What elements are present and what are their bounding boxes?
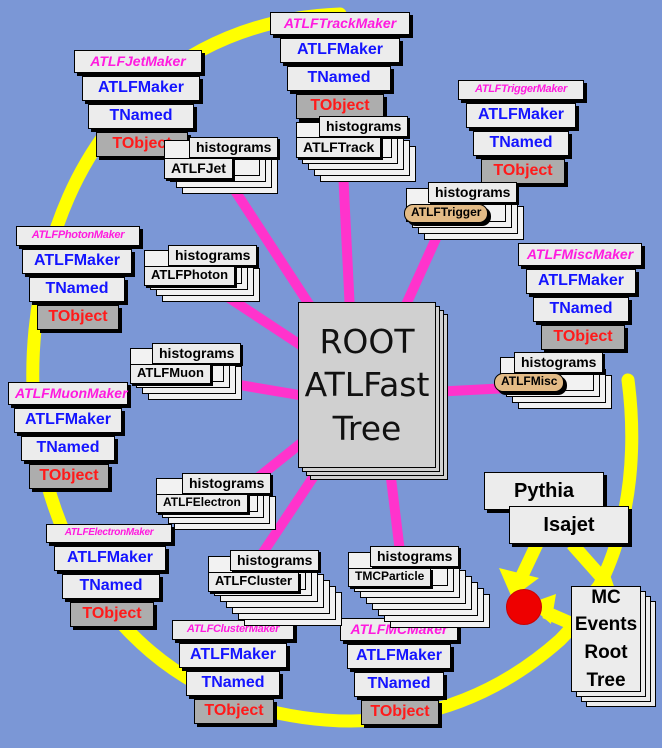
jet-class-label[interactable]: ATLFJet	[164, 158, 233, 179]
class-box-tobject-cluster[interactable]: TObject	[194, 699, 274, 724]
class-box-tobject-muon[interactable]: TObject	[29, 464, 109, 489]
class-box-atlfmaker-track[interactable]: ATLFMaker	[280, 38, 400, 63]
isajet-box[interactable]: Isajet	[509, 506, 629, 544]
class-box-tobject-electron[interactable]: TObject	[70, 602, 154, 627]
class-stack-trackmaker[interactable]: ATLFTrackMaker ATLFMaker TNamed TObject	[270, 12, 415, 122]
class-box-atlfmaker-misc[interactable]: ATLFMaker	[526, 269, 636, 294]
class-stack-mcmaker[interactable]: ATLFMCMaker ATLFMaker TNamed TObject	[340, 618, 462, 728]
class-stack-electronmaker[interactable]: ATLFElectronMaker ATLFMaker TNamed TObje…	[46, 524, 176, 630]
class-box-atlfmaker-cluster[interactable]: ATLFMaker	[179, 643, 287, 668]
class-box-tnamed-misc[interactable]: TNamed	[533, 297, 629, 322]
electron-class-label[interactable]: ATLFElectron	[156, 494, 248, 513]
class-box-atlfmaker-trigger[interactable]: ATLFMaker	[466, 103, 576, 128]
jet-histograms-label[interactable]: histograms	[189, 137, 278, 158]
pythia-box[interactable]: Pythia	[484, 472, 604, 510]
trigger-histograms-label[interactable]: histograms	[428, 182, 517, 203]
class-box-atlfmaker-mc[interactable]: ATLFMaker	[347, 644, 451, 669]
class-stack-photonmaker[interactable]: ATLFPhotonMaker ATLFMaker TNamed TObject	[16, 226, 144, 333]
muon-class-label[interactable]: ATLFMuon	[130, 364, 211, 384]
class-stack-miscmaker[interactable]: ATLFMiscMaker ATLFMaker TNamed TObject	[518, 243, 646, 353]
photon-class-label[interactable]: ATLFPhoton	[144, 266, 235, 286]
mc-events-root-tree[interactable]: MC Events Root Tree	[571, 586, 659, 710]
misc-class-label[interactable]: ATLFMisc	[494, 373, 564, 392]
class-box-tnamed-cluster[interactable]: TNamed	[186, 671, 280, 696]
tree-line-1: ROOT	[319, 320, 414, 364]
merge-point-marker	[506, 589, 542, 625]
class-box-atlftrackmaker[interactable]: ATLFTrackMaker	[270, 12, 410, 35]
class-box-atlfmaker-jet[interactable]: ATLFMaker	[82, 76, 200, 101]
muon-histograms-label[interactable]: histograms	[152, 343, 241, 364]
mc-front-sheet: MC Events Root Tree	[571, 586, 641, 692]
class-box-tnamed-trigger[interactable]: TNamed	[473, 131, 569, 156]
class-box-tobject-photon[interactable]: TObject	[37, 305, 119, 330]
mcparticle-class-label[interactable]: TMCParticle	[348, 568, 431, 587]
class-box-atlfjetmaker[interactable]: ATLFJetMaker	[74, 50, 202, 73]
class-box-tobject-mc[interactable]: TObject	[361, 700, 439, 725]
class-box-tnamed-photon[interactable]: TNamed	[29, 277, 125, 302]
spoke-track	[343, 170, 350, 312]
cluster-class-label[interactable]: ATLFCluster	[208, 572, 299, 592]
class-box-tobject-trigger[interactable]: TObject	[481, 159, 565, 184]
track-histograms-label[interactable]: histograms	[319, 116, 408, 137]
class-box-atlfphotonmaker[interactable]: ATLFPhotonMaker	[16, 226, 140, 246]
class-box-tnamed-track[interactable]: TNamed	[287, 66, 391, 91]
class-box-atlftriggermaker[interactable]: ATLFTriggerMaker	[458, 80, 584, 100]
class-stack-muonmaker[interactable]: ATLFMuonMaker ATLFMaker TNamed TObject	[8, 382, 132, 492]
diagram-canvas: ROOT ATLFast Tree ATLFJetMaker ATLFMaker…	[0, 0, 662, 748]
class-box-atlfmuonmaker[interactable]: ATLFMuonMaker	[8, 382, 128, 405]
trigger-class-label[interactable]: ATLFTrigger	[404, 204, 488, 223]
class-box-tnamed-mc[interactable]: TNamed	[354, 672, 444, 697]
class-box-tnamed-electron[interactable]: TNamed	[62, 574, 160, 599]
mc-line-2: Events	[575, 611, 637, 639]
track-class-label[interactable]: ATLFTrack	[296, 137, 381, 158]
tree-front-sheet: ROOT ATLFast Tree	[298, 302, 436, 468]
arrow-isajet-to-mc	[572, 544, 604, 580]
class-stack-clustermaker[interactable]: ATLFClusterMaker ATLFMaker TNamed TObjec…	[172, 620, 298, 727]
mcparticle-histograms-label[interactable]: histograms	[370, 546, 459, 567]
class-box-atlfmaker-photon[interactable]: ATLFMaker	[22, 249, 132, 274]
tree-line-3: Tree	[333, 407, 402, 451]
class-box-tnamed-muon[interactable]: TNamed	[21, 436, 115, 461]
mc-line-3: Root	[584, 639, 627, 667]
class-box-atlfmaker-muon[interactable]: ATLFMaker	[14, 408, 122, 433]
cluster-histograms-label[interactable]: histograms	[230, 550, 319, 571]
class-box-atlfmaker-electron[interactable]: ATLFMaker	[54, 546, 166, 571]
class-box-atlfelectronmaker[interactable]: ATLFElectronMaker	[46, 524, 172, 543]
electron-histograms-label[interactable]: histograms	[182, 473, 271, 494]
photon-histograms-label[interactable]: histograms	[168, 245, 257, 266]
mc-line-4: Tree	[586, 667, 625, 695]
class-box-tobject-misc[interactable]: TObject	[541, 325, 625, 350]
tree-line-2: ATLFast	[305, 363, 430, 407]
root-atlfast-tree[interactable]: ROOT ATLFast Tree	[298, 302, 448, 480]
mc-line-1: MC	[591, 584, 621, 612]
spoke-mcpart	[390, 470, 400, 552]
misc-histograms-label[interactable]: histograms	[514, 352, 603, 373]
class-box-atlfmiscmaker[interactable]: ATLFMiscMaker	[518, 243, 642, 266]
class-stack-triggermaker[interactable]: ATLFTriggerMaker ATLFMaker TNamed TObjec…	[458, 80, 588, 187]
class-box-tnamed-jet[interactable]: TNamed	[88, 104, 194, 129]
